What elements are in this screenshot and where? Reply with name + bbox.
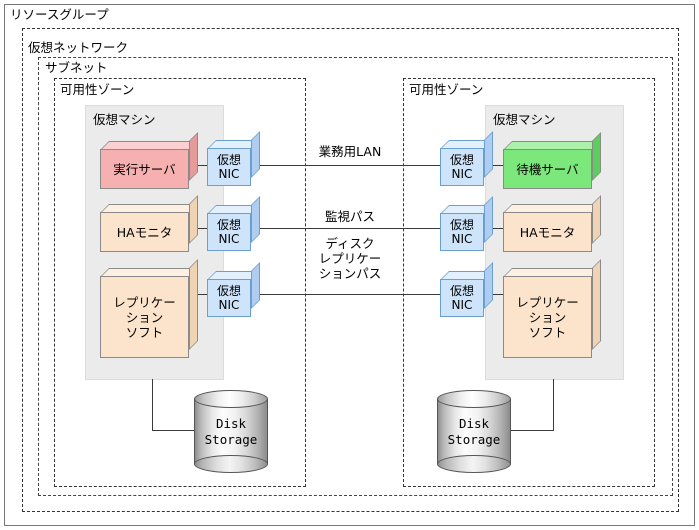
nic-label-line1: 仮想 — [217, 284, 241, 298]
vm-panel-left-label: 仮想マシン — [93, 113, 156, 126]
nic-label-line2: NIC — [219, 167, 240, 181]
node-active-server-left[interactable]: 実行サーバ — [100, 141, 198, 189]
box-side-face — [189, 132, 198, 181]
disk-storage-right[interactable]: Disk Storage — [437, 390, 511, 473]
frame-virtual-network-label: 仮想ネットワーク — [28, 41, 128, 54]
node-replication-software-right[interactable]: レプリケー ション ソフト — [503, 268, 601, 358]
nic-label-line1: 仮想 — [217, 153, 241, 167]
node-label: HAモニタ — [100, 212, 189, 252]
box-side-face — [592, 195, 601, 244]
node-ha-monitor-left[interactable]: HAモニタ — [100, 204, 198, 252]
nic-replication-path-right[interactable]: 仮想 NIC — [440, 271, 493, 317]
nic-label-line1: 仮想 — [450, 218, 474, 232]
storage-label-line1: Disk — [216, 416, 246, 432]
availability-zone-right-label: 可用性ゾーン — [409, 83, 483, 96]
storage-label-line1: Disk — [459, 416, 489, 432]
nic-label: 仮想 NIC — [207, 213, 251, 251]
architecture-diagram: リソースグループ 仮想ネットワーク サブネット 可用性ゾーン 仮想マシン 実行サ… — [0, 0, 699, 530]
node-label: レプリケー ション ソフト — [503, 276, 592, 358]
path-line-business-lan — [258, 165, 442, 166]
path-label-disk-replication: ディスク レプリケー ションパス — [306, 236, 394, 281]
nic-label-line2: NIC — [452, 232, 473, 246]
nic-label: 仮想 NIC — [440, 213, 484, 251]
nic-business-lan-right[interactable]: 仮想 NIC — [440, 140, 493, 186]
nic-replication-path-left[interactable]: 仮想 NIC — [207, 271, 260, 317]
node-label-line1: レプリケー — [113, 295, 176, 310]
nic-label-line2: NIC — [452, 167, 473, 181]
node-label: 待機サーバ — [503, 149, 592, 189]
storage-label-line2: Storage — [205, 432, 258, 448]
nic-label-line1: 仮想 — [450, 153, 474, 167]
connector-vm-storage-left-horizontal — [152, 430, 196, 431]
connector-vm-storage-left-vertical — [152, 379, 153, 431]
path-label-business-lan: 業務用LAN — [312, 144, 388, 159]
connector-vm-storage-right-horizontal — [510, 430, 554, 431]
frame-resource-group-label: リソースグループ — [10, 8, 109, 21]
node-standby-server-right[interactable]: 待機サーバ — [503, 141, 601, 189]
nic-label: 仮想 NIC — [207, 148, 251, 186]
nic-label: 仮想 NIC — [440, 148, 484, 186]
disk-storage-label: Disk Storage — [194, 390, 268, 473]
nic-business-lan-left[interactable]: 仮想 NIC — [207, 140, 260, 186]
path-label-line1: ディスク — [325, 236, 374, 251]
storage-label-line2: Storage — [448, 432, 501, 448]
box-side-face — [189, 259, 198, 350]
connector-vm-storage-right-vertical — [553, 379, 554, 431]
node-label-line3: ソフト — [126, 325, 164, 340]
node-label-line2: ション — [126, 310, 164, 325]
box-side-face — [251, 131, 260, 178]
vm-panel-right-label: 仮想マシン — [493, 113, 556, 126]
disk-storage-left[interactable]: Disk Storage — [194, 390, 268, 473]
path-label-monitor-path: 監視パス — [316, 209, 384, 224]
path-line-monitor-path — [258, 228, 442, 229]
nic-label-line2: NIC — [452, 298, 473, 312]
node-ha-monitor-right[interactable]: HAモニタ — [503, 204, 601, 252]
path-label-line2: レプリケー — [319, 251, 382, 266]
box-side-face — [189, 195, 198, 244]
nic-label-line2: NIC — [219, 298, 240, 312]
nic-label-line1: 仮想 — [217, 218, 241, 232]
box-side-face — [484, 196, 493, 243]
nic-label: 仮想 NIC — [440, 279, 484, 317]
nic-monitor-path-left[interactable]: 仮想 NIC — [207, 205, 260, 251]
box-side-face — [484, 262, 493, 309]
node-label: レプリケー ション ソフト — [100, 276, 189, 358]
path-line-disk-replication — [258, 294, 442, 295]
node-label: 実行サーバ — [100, 149, 189, 189]
disk-storage-label: Disk Storage — [437, 390, 511, 473]
node-replication-software-left[interactable]: レプリケー ション ソフト — [100, 268, 198, 358]
box-side-face — [251, 196, 260, 243]
nic-label-line1: 仮想 — [450, 284, 474, 298]
path-label-line3: ションパス — [319, 266, 382, 281]
node-label-line3: ソフト — [529, 325, 567, 340]
availability-zone-left-label: 可用性ゾーン — [60, 83, 134, 96]
node-label-line1: レプリケー — [516, 295, 579, 310]
nic-label-line2: NIC — [219, 232, 240, 246]
frame-subnet-label: サブネット — [45, 61, 108, 74]
box-side-face — [251, 262, 260, 309]
box-side-face — [592, 259, 601, 350]
nic-label: 仮想 NIC — [207, 279, 251, 317]
node-label-line2: ション — [529, 310, 567, 325]
box-side-face — [592, 132, 601, 181]
nic-monitor-path-right[interactable]: 仮想 NIC — [440, 205, 493, 251]
node-label: HAモニタ — [503, 212, 592, 252]
box-side-face — [484, 131, 493, 178]
